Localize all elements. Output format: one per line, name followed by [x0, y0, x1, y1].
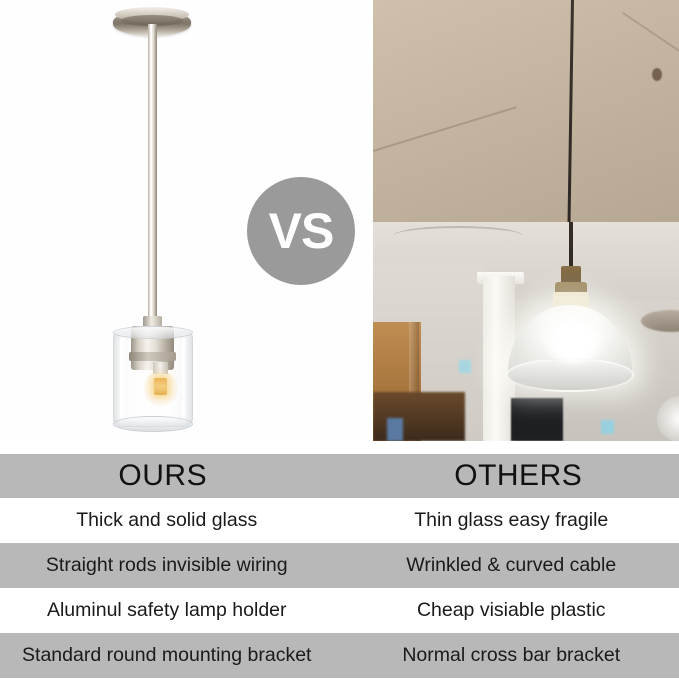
bulb-filament: [154, 378, 167, 395]
competitor-light-glare: [545, 322, 603, 364]
row-ours-feature: Thick and solid glass: [0, 510, 340, 531]
glass-shade-bottom-rim: [113, 416, 193, 432]
competitor-cord: [569, 222, 573, 270]
row-ours-feature: Standard round mounting bracket: [0, 645, 340, 666]
versus-label: VS: [269, 206, 334, 256]
beige-ceiling: [373, 0, 679, 228]
row-others-feature: Normal cross bar bracket: [340, 645, 679, 666]
ceiling-arc-trim: [393, 226, 523, 246]
table-row: Aluminul safety lamp holder Cheap visiab…: [0, 588, 679, 633]
comparison-table: OURS OTHERS Thick and solid glass Thin g…: [0, 454, 679, 678]
row-ours-feature: Straight rods invisible wiring: [0, 555, 340, 576]
wall-nightlight-left: [459, 360, 471, 373]
lamp-holder-band: [129, 352, 176, 361]
table-row: Straight rods invisible wiring Wrinkled …: [0, 543, 679, 588]
table-header-row: OURS OTHERS: [0, 454, 679, 498]
header-others: OTHERS: [340, 461, 679, 491]
bulb-neck: [153, 362, 168, 374]
ceiling-knob: [652, 68, 662, 81]
glass-highlight-right: [182, 338, 185, 418]
row-others-feature: Wrinkled & curved cable: [340, 555, 679, 576]
competitor-photo-scene: [373, 0, 679, 441]
blue-counter-item: [387, 418, 403, 441]
row-others-feature: Cheap visiable plastic: [340, 600, 679, 621]
dark-screen: [511, 398, 563, 441]
glass-shade-top-rim: [113, 326, 193, 339]
glass-highlight-left: [120, 338, 124, 418]
comparison-hero: VS: [0, 0, 679, 448]
header-ours: OURS: [0, 461, 340, 491]
table-row: Standard round mounting bracket Normal c…: [0, 633, 679, 678]
table-row: Thick and solid glass Thin glass easy fr…: [0, 498, 679, 543]
row-others-feature: Thin glass easy fragile: [340, 510, 679, 531]
wall-nightlight-right: [601, 420, 614, 434]
versus-badge: VS: [247, 177, 355, 285]
row-ours-feature: Aluminul safety lamp holder: [0, 600, 340, 621]
competitor-photo-panel: [373, 0, 679, 441]
downrod-highlight: [150, 24, 152, 336]
